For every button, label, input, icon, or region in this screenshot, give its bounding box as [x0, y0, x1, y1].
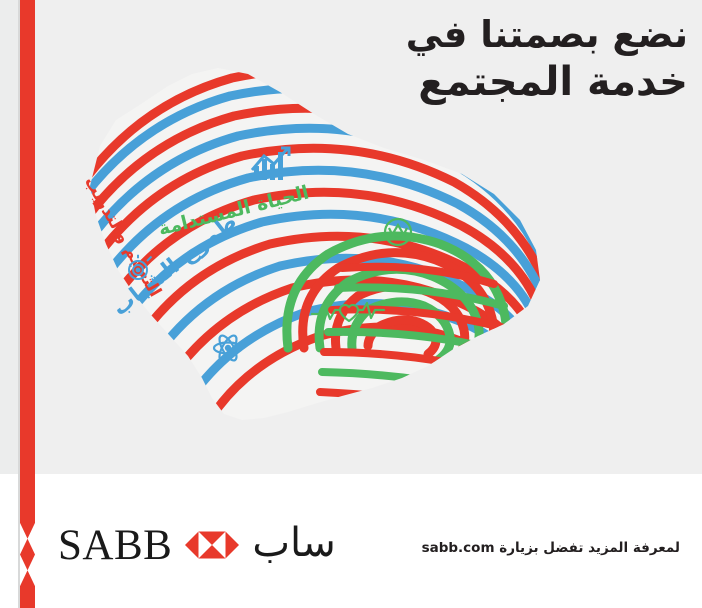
sabb-wordmark-arabic: ساب	[252, 523, 335, 567]
footer-cta-domain[interactable]: sabb.com	[422, 540, 495, 556]
saudi-arabia-fingerprint-artwork: طموح الشباب الحياة المستدامة التعليم وال…	[42, 48, 582, 438]
footer-cta: لمعرفة المزيد تفضل بزيارة sabb.com	[422, 540, 680, 556]
footer-cta-prefix: لمعرفة المزيد تفضل بزيارة	[499, 540, 680, 556]
red-rule-shadow	[18, 0, 20, 608]
sabb-brand-lockup: SABB ساب	[58, 521, 336, 569]
sabb-hexagon-logo	[185, 527, 239, 563]
red-vertical-rule-with-chevron	[20, 0, 35, 608]
sabb-wordmark-latin: SABB	[58, 524, 172, 567]
advertisement-canvas: نضع بصمتنا في خدمة المجتمع	[0, 0, 702, 608]
